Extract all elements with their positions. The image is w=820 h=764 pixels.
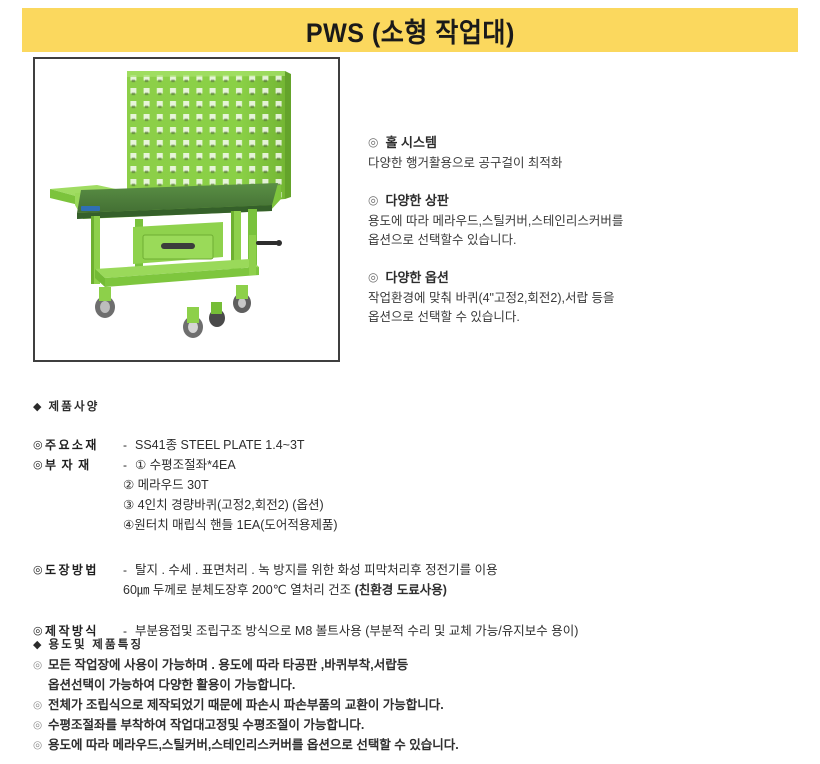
casters [95, 285, 251, 338]
spec-row-sub-material-2: ② 메라우드 30T [33, 476, 793, 495]
spec-value-coating-line2: 60㎛ 두께로 분체도장후 200℃ 열처리 건조 (친환경 도료사용) [123, 581, 447, 600]
feature-item-1: ◎다양한 상판 용도에 따라 메라우드,스틸커버,스테인리스커버를 옵션으로 선… [368, 190, 798, 250]
usage-item-3: ◎ 용도에 따라 메라우드,스틸커버,스테인리스커버를 옵션으로 선택할 수 있… [33, 735, 793, 755]
brand-label [81, 206, 100, 211]
feature-heading-0: ◎홀 시스템 [368, 132, 798, 153]
feature-line-2-1: 옵션으로 선택할 수 있습니다. [368, 309, 798, 327]
feature-heading-text-1: 다양한 상판 [385, 193, 448, 208]
feature-heading-1: ◎다양한 상판 [368, 190, 798, 211]
spec-row-coating: ◎ 도장방법 - 탈지 . 수세 . 표면처리 . 녹 방지를 위한 화성 피막… [33, 561, 793, 580]
feature-heading-2: ◎다양한 옵션 [368, 267, 798, 288]
spec-row-sub-material: ◎ 부자재 - ① 수평조절좌*4EA [33, 456, 793, 475]
usage-item-0-line1: 모든 작업장에 사용이 가능하며 . 용도에 따라 타공판 ,바퀴부착,서랍등 [48, 655, 408, 675]
circle-icon: ◎ [33, 655, 48, 675]
spec-dash: - [123, 456, 135, 475]
spec-section-title: ◆제품사양 [33, 398, 793, 414]
spec-label-main-material: 주요소재 [45, 436, 123, 455]
usage-item-0-line2: 옵션선택이 가능하여 다양한 활용이 가능합니다. [48, 675, 295, 695]
spec-value-sub-material-4: ④원터치 매립식 핸들 1EA(도어적용제품) [123, 516, 338, 535]
usage-item-0: ◎ 모든 작업장에 사용이 가능하며 . 용도에 따라 타공판 ,바퀴부착,서랍… [33, 655, 793, 675]
spec-value-sub-material-1: ① 수평조절좌*4EA [135, 456, 236, 475]
usage-item-2-line1: 수평조절좌를 부착하여 작업대고정및 수평조절이 가능합니다. [48, 715, 364, 735]
double-circle-icon: ◎ [368, 267, 378, 287]
spec-rows: ◎ 주요소재 - SS41종 STEEL PLATE 1.4~3T ◎ 부자재 … [33, 436, 793, 535]
feature-line-2-0: 작업환경에 맞춰 바퀴(4"고정2,회전2),서랍 등을 [368, 290, 798, 308]
product-image-frame [33, 57, 340, 362]
workbench-illustration [35, 59, 338, 360]
diamond-icon: ◆ [33, 401, 41, 413]
spec-section-title-text: 제품사양 [48, 401, 99, 413]
circle-icon: ◎ [33, 735, 48, 755]
spec-row-coating-line2: 60㎛ 두께로 분체도장후 200℃ 열처리 건조 (친환경 도료사용) [33, 581, 793, 600]
spec-value-coating-line1: 탈지 . 수세 . 표면처리 . 녹 방지를 위한 화성 피막처리후 정전기를 … [135, 561, 498, 580]
side-crank [249, 235, 282, 275]
lower-shelf [95, 259, 259, 287]
spec-row-main-material: ◎ 주요소재 - SS41종 STEEL PLATE 1.4~3T [33, 436, 793, 455]
usage-section-title: ◆용도및 제품특징 [33, 636, 793, 652]
usage-item-1: ◎ 전체가 조립식으로 제작되었기 때문에 파손시 파손부품의 교환이 가능합니… [33, 695, 793, 715]
feature-heading-text-0: 홀 시스템 [385, 135, 436, 150]
page-title: PWS (소형 작업대) [306, 11, 515, 50]
usage-section: ◆용도및 제품특징 ◎ 모든 작업장에 사용이 가능하며 . 용도에 따라 타공… [33, 636, 793, 755]
drawer-handle [161, 243, 195, 249]
double-circle-icon: ◎ [368, 190, 378, 210]
feature-line-1-1: 옵션으로 선택할수 있습니다. [368, 232, 798, 250]
feature-item-2: ◎다양한 옵션 작업환경에 맞춰 바퀴(4"고정2,회전2),서랍 등을 옵션으… [368, 267, 798, 327]
spec-value-sub-material-3: ③ 4인치 경량바퀴(고정2,회전2) (옵션) [123, 496, 324, 515]
spec-label-sub-material: 부자재 [45, 456, 123, 475]
spec-label-coating: 도장방법 [45, 561, 123, 580]
feature-line-1-0: 용도에 따라 메라우드,스틸커버,스테인리스커버를 [368, 213, 798, 231]
usage-section-title-text: 용도및 제품특징 [48, 639, 143, 651]
usage-item-2: ◎ 수평조절좌를 부착하여 작업대고정및 수평조절이 가능합니다. [33, 715, 793, 735]
circle-icon: ◎ [33, 561, 45, 580]
diamond-icon: ◆ [33, 639, 41, 651]
feature-line-0-0: 다양한 행거활용으로 공구걸이 최적화 [368, 155, 798, 173]
circle-icon: ◎ [33, 456, 45, 475]
usage-item-3-line1: 용도에 따라 메라우드,스틸커버,스테인리스커버를 옵션으로 선택할 수 있습니… [48, 735, 459, 755]
spec-section: ◆제품사양 ◎ 주요소재 - SS41종 STEEL PLATE 1.4~3T … [33, 398, 793, 641]
circle-icon: ◎ [33, 695, 48, 715]
circle-icon: ◎ [33, 436, 45, 455]
spec-dash: - [123, 436, 135, 455]
feature-heading-text-2: 다양한 옵션 [385, 270, 448, 285]
page-title-banner: PWS (소형 작업대) [22, 8, 798, 52]
spec-row-sub-material-4: ④원터치 매립식 핸들 1EA(도어적용제품) [33, 516, 793, 535]
usage-item-0-cont: 옵션선택이 가능하여 다양한 활용이 가능합니다. [33, 675, 793, 695]
feature-list: ◎홀 시스템 다양한 행거활용으로 공구걸이 최적화 ◎다양한 상판 용도에 따… [368, 132, 798, 327]
product-image [35, 59, 338, 360]
usage-item-1-line1: 전체가 조립식으로 제작되었기 때문에 파손시 파손부품의 교환이 가능합니다. [48, 695, 444, 715]
spec-value-sub-material-2: ② 메라우드 30T [123, 476, 209, 495]
spec-row-sub-material-3: ③ 4인치 경량바퀴(고정2,회전2) (옵션) [33, 496, 793, 515]
spec-dash: - [123, 561, 135, 580]
double-circle-icon: ◎ [368, 132, 378, 152]
coating-line2-plain: 60㎛ 두께로 분체도장후 200℃ 열처리 건조 [123, 583, 355, 597]
coating-line2-bold: (친환경 도료사용) [355, 583, 447, 597]
feature-item-0: ◎홀 시스템 다양한 행거활용으로 공구걸이 최적화 [368, 132, 798, 173]
spec-coating-group: ◎ 도장방법 - 탈지 . 수세 . 표면처리 . 녹 방지를 위한 화성 피막… [33, 561, 793, 600]
spec-value-main-material: SS41종 STEEL PLATE 1.4~3T [135, 436, 305, 455]
circle-icon: ◎ [33, 715, 48, 735]
